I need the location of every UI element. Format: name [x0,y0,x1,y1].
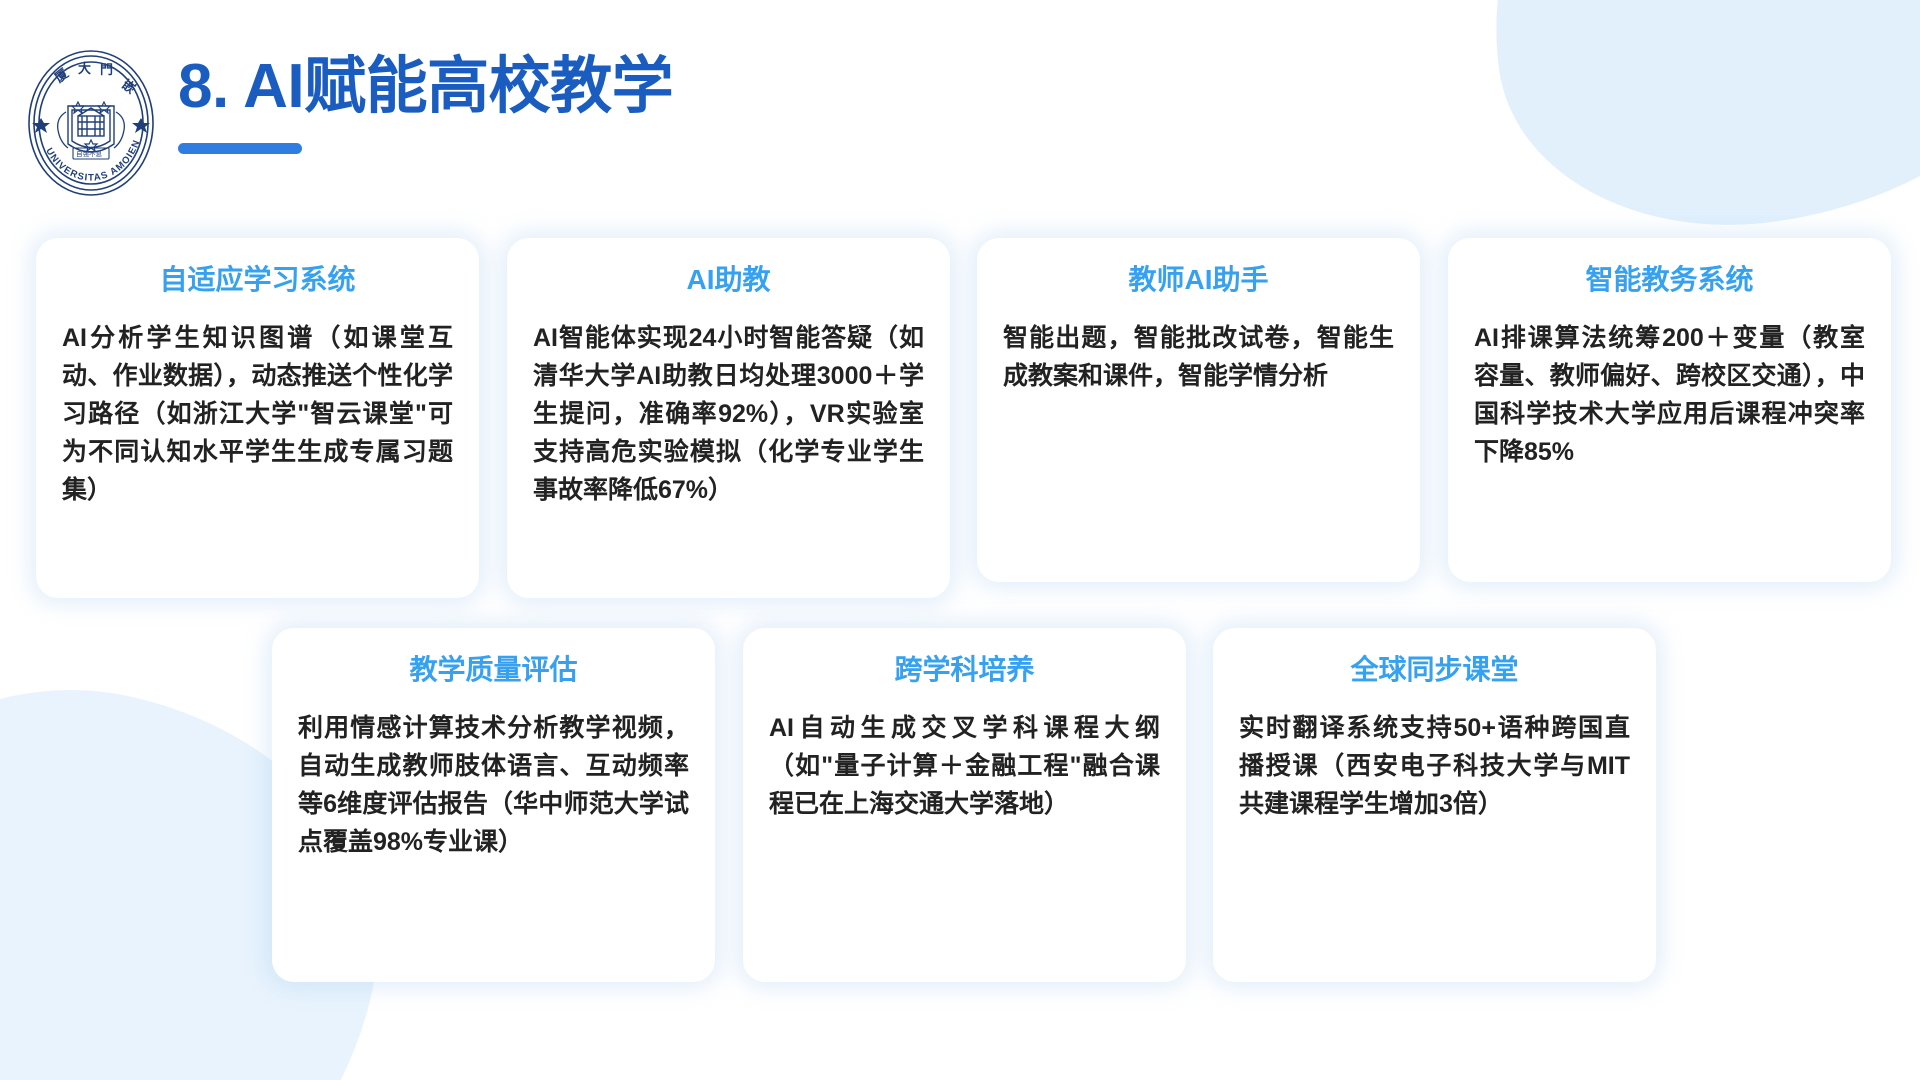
card-title: 教师AI助手 [1003,262,1394,297]
card-global-synchronous-classroom[interactable]: 全球同步课堂 实时翻译系统支持50+语种跨国直播授课（西安电子科技大学与MIT共… [1213,628,1656,982]
card-title: 跨学科培养 [769,652,1160,687]
svg-text:自強不息: 自強不息 [76,149,103,158]
title-block: 8. AI赋能高校教学 [178,44,673,154]
card-interdisciplinary-training[interactable]: 跨学科培养 AI自动生成交叉学科课程大纲（如"量子计算＋金融工程"融合课程已在上… [743,628,1186,982]
card-body: 实时翻译系统支持50+语种跨国直播授课（西安电子科技大学与MIT共建课程学生增加… [1239,709,1630,823]
card-title: 教学质量评估 [298,652,689,687]
university-seal-icon: 厦 大 門 嵌 自強不息 UNIVERSITAS AMOIENSIS [26,48,156,198]
card-body: AI智能体实现24小时智能答疑（如清华大学AI助教日均处理3000＋学生提问，准… [533,319,924,509]
svg-text:門: 門 [100,63,113,78]
card-title: 智能教务系统 [1474,262,1865,297]
card-title: 自适应学习系统 [62,262,453,297]
card-body: AI排课算法统筹200＋变量（教室容量、教师偏好、跨校区交通），中国科学技术大学… [1474,319,1865,471]
svg-text:嵌: 嵌 [119,77,139,98]
title-accent-bar [178,143,302,154]
card-smart-academic-affairs-system[interactable]: 智能教务系统 AI排课算法统筹200＋变量（教室容量、教师偏好、跨校区交通），中… [1448,238,1891,582]
card-body: 利用情感计算技术分析教学视频，自动生成教师肢体语言、互动频率等6维度评估报告（华… [298,709,689,861]
page-title: 8. AI赋能高校教学 [178,54,673,119]
card-body: AI分析学生知识图谱（如课堂互动、作业数据），动态推送个性化学习路径（如浙江大学… [62,319,453,509]
card-title: 全球同步课堂 [1239,652,1630,687]
card-ai-teaching-assistant[interactable]: AI助教 AI智能体实现24小时智能答疑（如清华大学AI助教日均处理3000＋学… [507,238,950,598]
card-body: AI自动生成交叉学科课程大纲（如"量子计算＋金融工程"融合课程已在上海交通大学落… [769,709,1160,823]
page-header: 厦 大 門 嵌 自強不息 UNIVERSITAS AMOIENSIS 8. AI… [26,44,673,198]
card-title: AI助教 [533,262,924,297]
card-teaching-quality-evaluation[interactable]: 教学质量评估 利用情感计算技术分析教学视频，自动生成教师肢体语言、互动频率等6维… [272,628,715,982]
card-body: 智能出题，智能批改试卷，智能生成教案和课件，智能学情分析 [1003,319,1394,395]
card-adaptive-learning-system[interactable]: 自适应学习系统 AI分析学生知识图谱（如课堂互动、作业数据），动态推送个性化学习… [36,238,479,598]
card-teacher-ai-helper[interactable]: 教师AI助手 智能出题，智能批改试卷，智能生成教案和课件，智能学情分析 [977,238,1420,582]
svg-text:大: 大 [78,61,91,77]
